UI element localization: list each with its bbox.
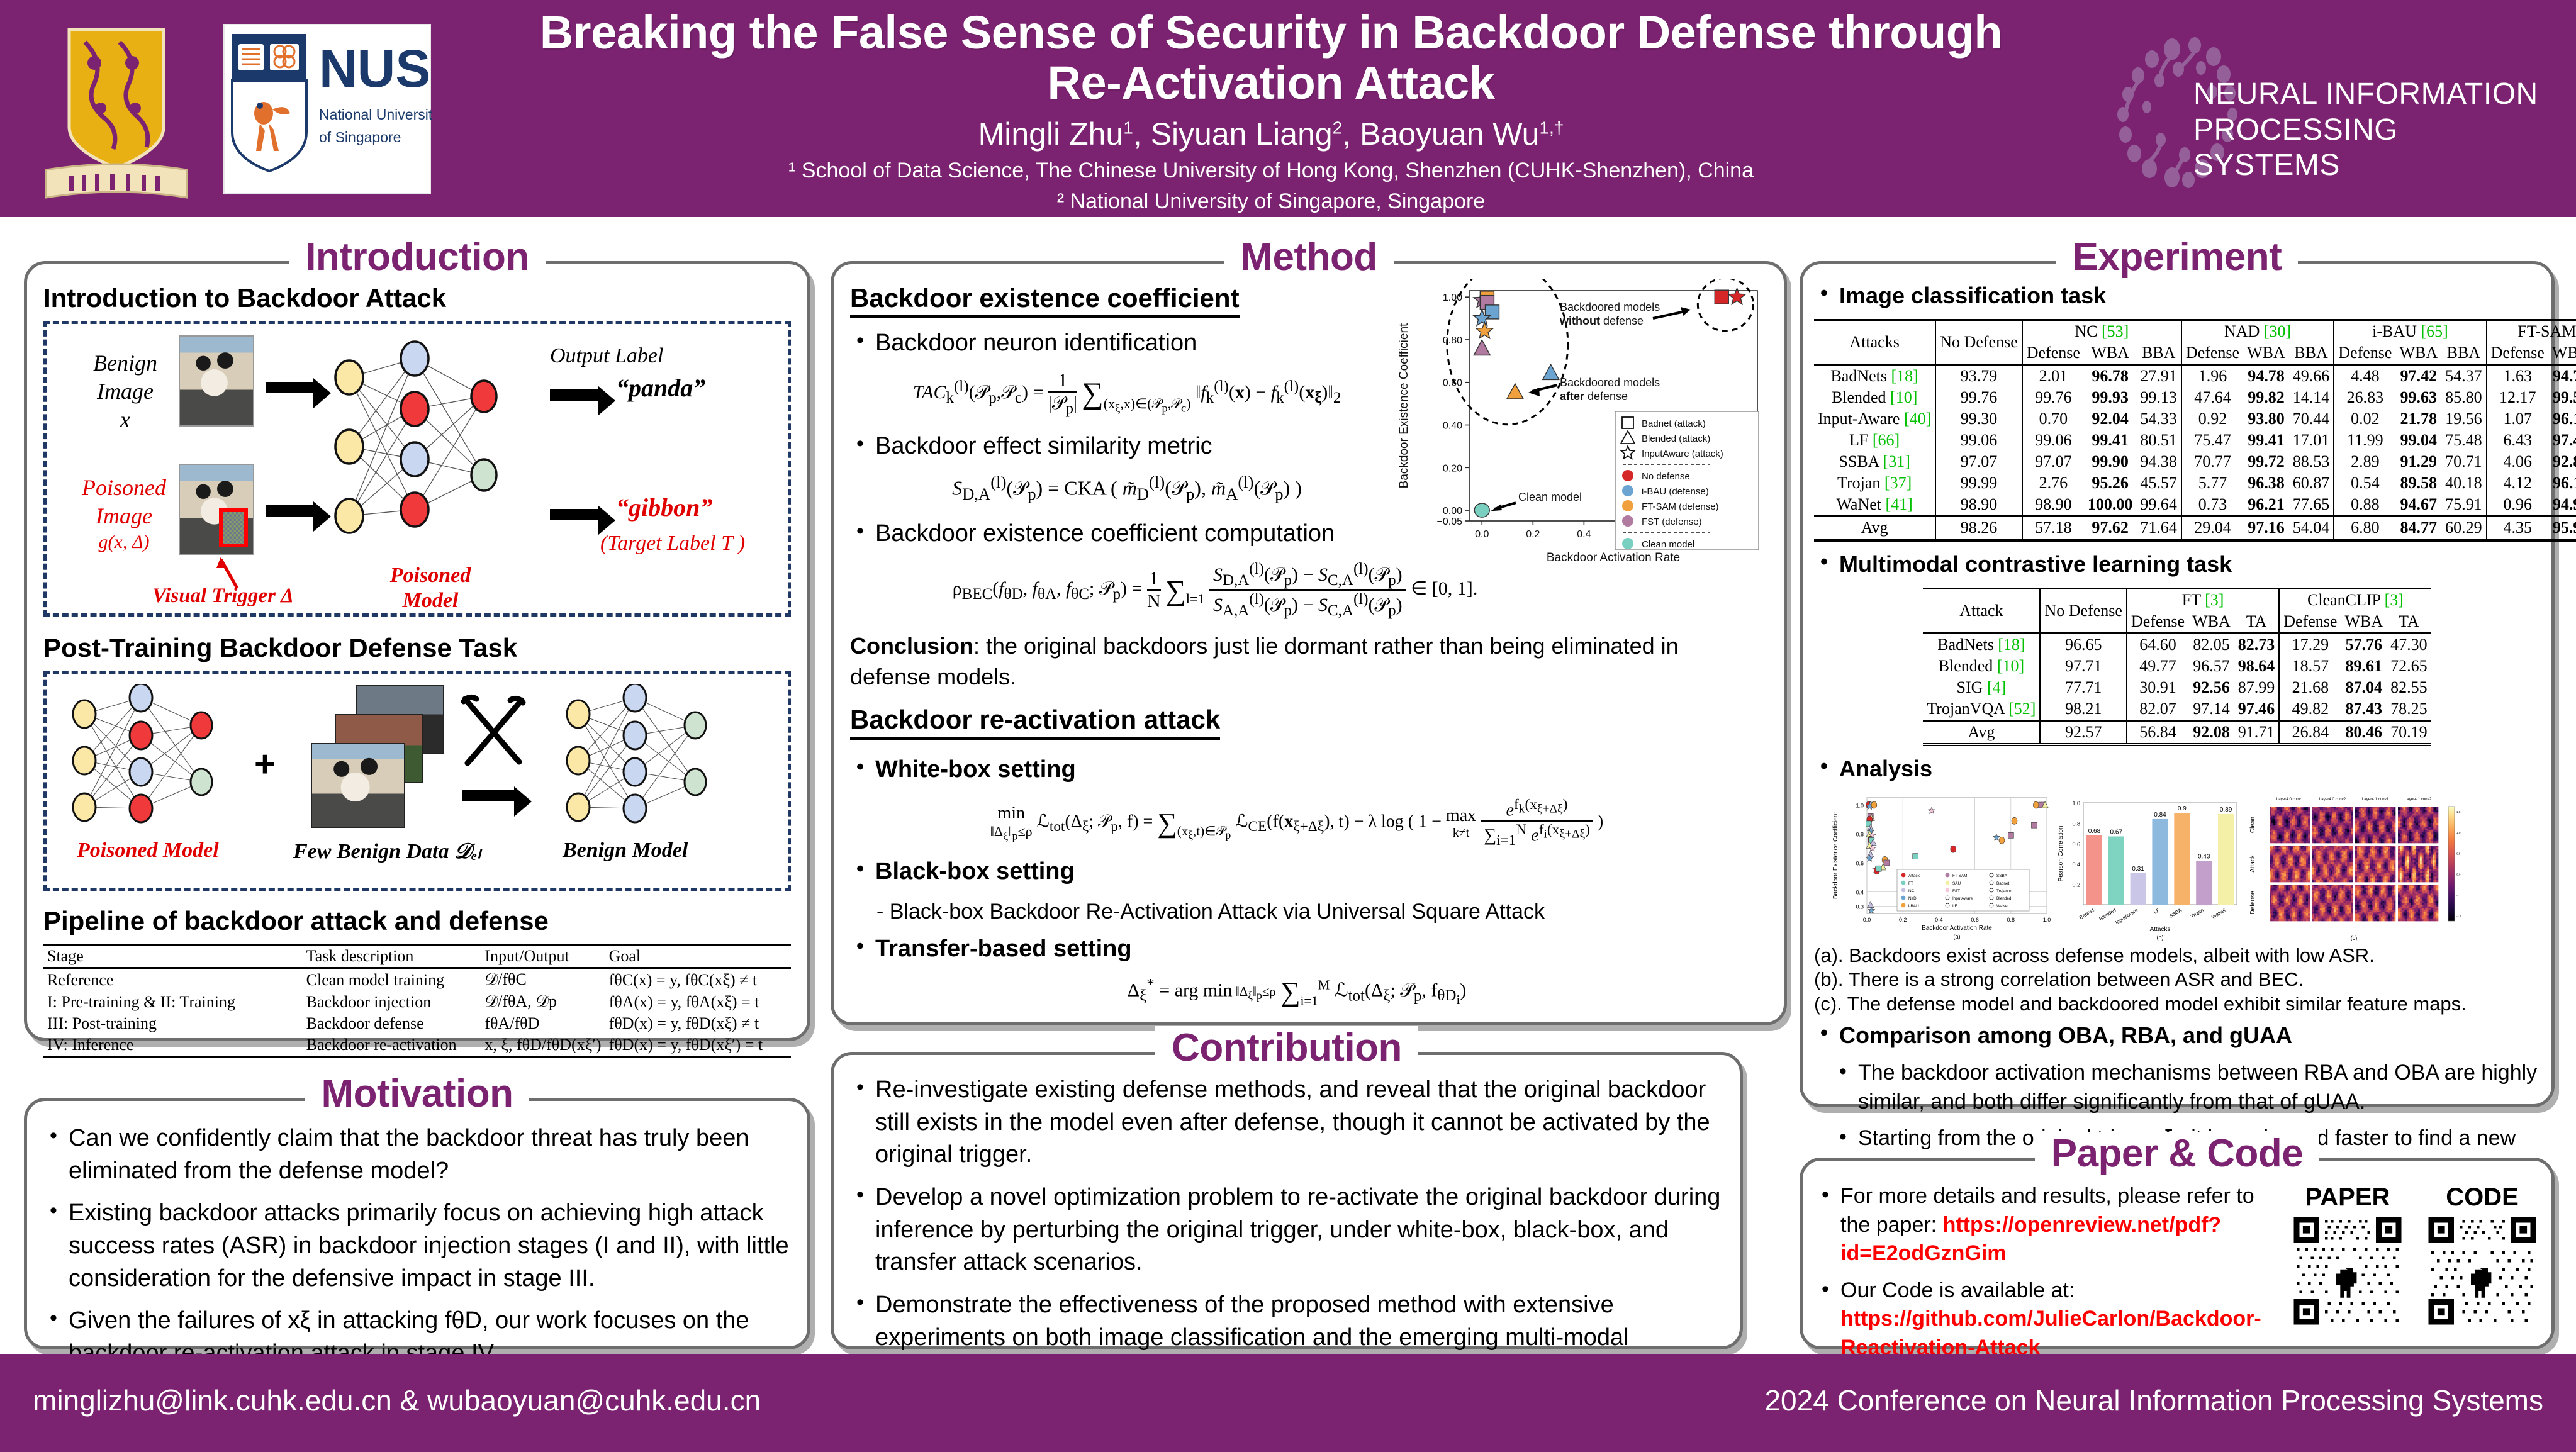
svg-text:(b): (b)	[2157, 934, 2164, 941]
svg-text:0.2: 0.2	[1526, 529, 1540, 540]
table-cell: Backdoor defense	[303, 1013, 481, 1034]
neurips-line-1: NEURAL INFORMATION	[2193, 77, 2546, 113]
svg-text:FT-SAM: FT-SAM	[1952, 874, 1967, 878]
cell-value: 96.78	[2084, 365, 2137, 388]
bullet-white-box: White-box setting	[850, 754, 1767, 786]
arrow-poisoned-to-model	[266, 505, 315, 517]
svg-text:Layer4.0.conv1: Layer4.0.conv1	[2276, 797, 2304, 801]
cell-value: 1.07	[2487, 408, 2548, 430]
svg-text:1.0: 1.0	[2043, 917, 2051, 923]
introduction-title: Introduction	[27, 235, 807, 279]
cell-value: 99.04	[2395, 430, 2441, 451]
cell-value: 99.82	[2243, 387, 2289, 408]
motivation-list: Can we confidently claim that the backdo…	[43, 1122, 791, 1370]
cell-value: 82.07	[2127, 698, 2188, 721]
qr-paper-block: PAPER	[2291, 1183, 2404, 1370]
cell-value: 64.60	[2127, 634, 2188, 656]
cell-value: 49.82	[2279, 698, 2341, 721]
title-line-1: Breaking the False Sense of Security in …	[466, 8, 2076, 58]
qr-github-code[interactable]	[2426, 1214, 2539, 1327]
cell-value: 92.04	[2084, 408, 2137, 430]
svg-text:0.8: 0.8	[1856, 831, 1864, 837]
cell-value: 82.55	[2387, 677, 2431, 698]
svg-text:0.3: 0.3	[1856, 903, 1864, 910]
cell-value: 56.84	[2127, 721, 2188, 745]
table-cell: fθA(x) = y, fθA(xξ) = t	[605, 991, 791, 1013]
cell-no-defense: 93.79	[1935, 365, 2022, 388]
cuhk-logo	[35, 14, 198, 203]
cell-attack: Avg	[1814, 517, 1935, 540]
title-block: Breaking the False Sense of Security in …	[466, 8, 2076, 214]
svg-text:Backdoor Activation Rate: Backdoor Activation Rate	[1922, 925, 1992, 932]
table-avg-row: Avg92.5756.8492.0891.7126.8480.4670.19	[1923, 721, 2431, 745]
svg-text:Backdoor Existence Coefficient: Backdoor Existence Coefficient	[1397, 323, 1411, 488]
image-classification-table: AttacksNo DefenseNC [53]NAD [30]i-BAU [6…	[1814, 319, 2576, 542]
cell-value: 40.18	[2441, 472, 2487, 494]
svg-text:Badnet (attack): Badnet (attack)	[1642, 418, 1706, 429]
footer-emails: minglizhu@link.cuhk.edu.cn & wubaoyuan@c…	[33, 1383, 761, 1417]
multimodal-table: AttackNo DefenseFT [3]CleanCLIP [3]Defen…	[1923, 588, 2431, 746]
contribution-bullet: Develop a novel optimization problem to …	[850, 1181, 1723, 1279]
poisoned-model-label: Poisoned Model	[342, 563, 518, 613]
col-group-NAD: NAD [30]	[2181, 320, 2334, 343]
cell-no-defense: 77.71	[2040, 677, 2126, 698]
poisoned-model-network-2	[65, 684, 254, 841]
svg-text:Backdoored models: Backdoored models	[1560, 376, 1660, 389]
cell-value: 94.38	[2136, 451, 2181, 472]
cell-value: 6.80	[2334, 517, 2395, 540]
svg-text:(a): (a)	[1954, 934, 1961, 940]
table-row: III: Post-trainingBackdoor defensefθA/fθ…	[43, 1013, 791, 1034]
cell-value: 11.99	[2334, 430, 2395, 451]
col-task: Task description	[303, 945, 481, 968]
svg-text:0.67: 0.67	[2110, 829, 2123, 835]
table-row: ReferenceClean model training𝒟/fθCfθC(x)…	[43, 968, 791, 991]
col-goal: Goal	[605, 945, 791, 968]
exp-bullet-mm: Multimodal contrastive learning task	[1814, 549, 2540, 579]
svg-text:Backdoor Existence Coefficient: Backdoor Existence Coefficient	[1832, 812, 1839, 898]
col-bba: BBA	[2289, 342, 2334, 365]
cell-no-defense: 99.76	[1935, 387, 2022, 408]
cell-no-defense: 98.90	[1935, 494, 2022, 517]
svg-text:NaD: NaD	[1908, 896, 1917, 901]
poster-header: NUS National University of Singapore Bre…	[0, 0, 2576, 217]
col-defense: Defense	[2127, 611, 2188, 634]
cell-value: 77.65	[2289, 494, 2334, 517]
contribution-title: Contribution	[834, 1025, 1740, 1070]
cell-value: 78.25	[2387, 698, 2431, 721]
cell-value: 96.38	[2243, 472, 2289, 494]
cell-value: 75.47	[2181, 430, 2243, 451]
table-row: Trojan [37]99.992.7695.2645.575.7796.386…	[1814, 472, 2576, 494]
col-attacks: Attack	[1923, 589, 2040, 634]
cell-value: 94.67	[2395, 494, 2441, 517]
cell-value: 99.56	[2548, 387, 2576, 408]
paper-code-panel: Paper & Code For more details and result…	[1800, 1158, 2555, 1349]
col-bba: BBA	[2136, 342, 2181, 365]
exp-bullet-comparison: Comparison among OBA, RBA, and gUAA	[1814, 1020, 2540, 1051]
col-group-FT: FT [3]	[2127, 589, 2279, 612]
cell-value: 70.77	[2181, 451, 2243, 472]
motivation-bullet: Can we confidently claim that the backdo…	[43, 1122, 791, 1187]
cell-value: 96.19	[2548, 408, 2576, 430]
cell-value: 84.77	[2395, 517, 2441, 540]
table-cell: III: Post-training	[43, 1013, 303, 1034]
cell-value: 60.29	[2441, 517, 2487, 540]
bullet-multimodal: Multimodal contrastive learning task	[1814, 549, 2540, 579]
affiliation-2: ² National University of Singapore, Sing…	[466, 189, 2076, 214]
cell-no-defense: 92.57	[2040, 721, 2126, 745]
cell-attack: LF [66]	[1814, 430, 1935, 451]
table-avg-row: Avg98.2657.1897.6271.6429.0497.1654.046.…	[1814, 517, 2576, 540]
svg-text:0.84: 0.84	[2154, 812, 2166, 818]
svg-text:0.0: 0.0	[1863, 917, 1871, 923]
page-title: Breaking the False Sense of Security in …	[466, 8, 2076, 108]
col-defense: Defense	[2181, 342, 2243, 365]
svg-text:0.80: 0.80	[1443, 335, 1462, 346]
svg-text:LF: LF	[2153, 907, 2161, 915]
cell-attack: Blended [10]	[1814, 387, 1935, 408]
table-row: Blended [10]97.7149.7796.5798.6418.5789.…	[1923, 656, 2431, 677]
formula-whitebox: min‖Δξ‖p≤ρ ℒtot(Δξ; 𝒫p, f) = ∑(xξ,t)∈𝒫p …	[850, 796, 1744, 849]
cell-value: 97.62	[2084, 517, 2137, 540]
cell-value: 82.05	[2188, 634, 2234, 656]
col-defense: Defense	[2334, 342, 2395, 365]
svg-text:0.00: 0.00	[1443, 506, 1462, 517]
cell-value: 99.64	[2136, 494, 2181, 517]
method-scatter-chart: 1.000.800.600.400.200.00−0.050.00.20.40.…	[1395, 279, 1772, 569]
benign-model-label: Benign Model	[563, 839, 688, 863]
table-cell: fθA/fθD	[481, 1013, 605, 1034]
table-row: Input-Aware [40]99.300.7092.0454.330.929…	[1814, 408, 2576, 430]
cell-value: 57.76	[2341, 634, 2387, 656]
cell-value: 97.07	[2022, 451, 2084, 472]
method-subheading-reactivation: Backdoor re-activation attack	[850, 705, 1220, 740]
svg-text:0.31: 0.31	[2132, 865, 2144, 872]
contribution-list: Re-investigate existing defense methods,…	[850, 1074, 1723, 1387]
svg-text:Attack: Attack	[1908, 874, 1920, 878]
cell-value: 0.96	[2487, 494, 2548, 517]
code-link-prefix: Our Code is available at:	[1840, 1278, 2075, 1302]
cell-value: 14.14	[2289, 387, 2334, 408]
formula-tac: TACk(l)(𝒫p,𝒫c) = 1 |𝒫p| ∑(xξ,x)∈(𝒫p,𝒫c) …	[850, 370, 1404, 418]
cell-value: 87.43	[2341, 698, 2387, 721]
svg-text:Blended (attack): Blended (attack)	[1642, 433, 1710, 444]
neurips-line-2: PROCESSING SYSTEMS	[2193, 113, 2546, 184]
svg-text:0.2: 0.2	[1899, 917, 1907, 923]
nus-logo: NUS National University of Singapore	[223, 24, 431, 194]
cell-no-defense: 97.07	[1935, 451, 2022, 472]
output-panda: “panda”	[616, 373, 705, 403]
svg-text:0.4: 0.4	[1856, 889, 1864, 895]
svg-text:Clean model: Clean model	[1518, 491, 1582, 503]
cell-value: 4.35	[2487, 517, 2548, 540]
method-coef-bullets: Backdoor existence coefficient computati…	[850, 518, 1429, 550]
cell-value: 85.80	[2441, 387, 2487, 408]
svg-text:1.0: 1.0	[1856, 802, 1864, 808]
svg-text:0.6: 0.6	[2072, 841, 2080, 847]
svg-text:0.0: 0.0	[1475, 529, 1489, 540]
conclusion-text: : the original backdoors just lie dorman…	[850, 633, 1679, 690]
col-wba: WBA	[2395, 342, 2441, 365]
intro-subheading-defense: Post-Training Backdoor Defense Task	[43, 633, 791, 663]
formula-similarity: SD,A(l)(𝒫p) = CKA ( m̃D(l)(𝒫p), m̃A(l)(𝒫…	[850, 472, 1404, 504]
cell-value: 98.90	[2022, 494, 2084, 517]
cell-value: 100.00	[2084, 494, 2137, 517]
bullet-transfer-based: Transfer-based setting	[850, 933, 1767, 966]
backdoor-attack-diagram: Benign Image x Poisoned Image g(x, Δ) Vi…	[43, 321, 791, 617]
svg-text:WaNet: WaNet	[1996, 904, 2009, 908]
cell-attack: WaNet [41]	[1814, 494, 1935, 517]
bullet-analysis: Analysis	[1814, 754, 2540, 784]
title-line-2: Re-Activation Attack	[466, 58, 2076, 108]
svg-text:0.4: 0.4	[1935, 917, 1943, 923]
table-cell: Reference	[43, 968, 303, 991]
cell-value: 0.54	[2334, 472, 2395, 494]
cell-value: 70.19	[2387, 721, 2431, 745]
col-defense: Defense	[2022, 342, 2084, 365]
table-cell: fθD(x) = y, fθD(xξ′) = t	[605, 1034, 791, 1057]
svg-text:SSBA: SSBA	[1996, 874, 2008, 878]
bullet-neuron-identification: Backdoor neuron identification	[850, 327, 1391, 360]
cell-no-defense: 96.65	[2040, 634, 2126, 656]
introduction-panel: Introduction Introduction to Backdoor At…	[24, 261, 810, 1041]
cell-value: 96.21	[2243, 494, 2289, 517]
svg-text:0.43: 0.43	[2198, 853, 2210, 860]
svg-text:i-BAU (defense): i-BAU (defense)	[1642, 486, 1709, 497]
svg-text:SAU: SAU	[1952, 881, 1961, 886]
svg-text:0.8: 0.8	[2007, 917, 2015, 923]
cell-value: 2.01	[2022, 365, 2084, 388]
svg-text:0.4: 0.4	[1577, 529, 1591, 540]
svg-text:InputAware: InputAware	[1952, 896, 1973, 901]
benign-image-label: Benign Image x	[72, 349, 179, 434]
svg-text:0.4: 0.4	[2072, 861, 2080, 868]
svg-text:0.40: 0.40	[1443, 421, 1462, 432]
cell-value: 91.29	[2395, 451, 2441, 472]
col-group-CleanCLIP: CleanCLIP [3]	[2279, 589, 2431, 612]
col-group-NC: NC [53]	[2022, 320, 2181, 343]
cell-value: 21.68	[2279, 677, 2341, 698]
cell-value: 99.76	[2022, 387, 2084, 408]
cell-value: 93.80	[2243, 408, 2289, 430]
cell-value: 1.63	[2487, 365, 2548, 388]
cell-value: 99.90	[2084, 451, 2137, 472]
footer-conference: 2024 Conference on Neural Information Pr…	[1764, 1383, 2543, 1417]
method-settings-whitebox: White-box setting	[850, 754, 1767, 786]
poisoned-image-label: Poisoned Image g(x, Δ)	[64, 474, 184, 554]
bullet-code-link: Our Code is available at: https://github…	[1815, 1276, 2262, 1363]
bullet-comparison: Comparison among OBA, RBA, and gUAA	[1814, 1020, 2540, 1051]
cell-value: 99.06	[2022, 430, 2084, 451]
svg-text:LF: LF	[1952, 904, 1957, 908]
cell-attack: Input-Aware [40]	[1814, 408, 1935, 430]
cell-value: 57.18	[2022, 517, 2084, 540]
poster-footer: minglizhu@link.cuhk.edu.cn & wubaoyuan@c…	[0, 1354, 2576, 1452]
svg-text:Layer4.1.conv1: Layer4.1.conv1	[2362, 797, 2389, 801]
arrow-to-benign-model	[462, 790, 515, 801]
analysis-note: (b). There is a strong correlation betwe…	[1814, 968, 2540, 992]
table-row: TrojanVQA [52]98.2182.0797.1497.4649.828…	[1923, 698, 2431, 721]
svg-text:without defense: without defense	[1559, 315, 1644, 327]
formula-transfer: Δξ* = arg min ‖Δξ‖p≤ρ ∑i=1M ℒtot(Δξ; 𝒫p,…	[850, 976, 1744, 1008]
cell-value: 18.57	[2279, 656, 2341, 677]
cell-value: 99.72	[2243, 451, 2289, 472]
cell-value: 19.56	[2441, 408, 2487, 430]
cell-value: 54.37	[2441, 365, 2487, 388]
cell-value: 2.76	[2022, 472, 2084, 494]
cell-no-defense: 98.26	[1935, 517, 2022, 540]
cell-value: 88.53	[2289, 451, 2334, 472]
wrench-tools-icon	[452, 688, 534, 769]
benign-model-network	[559, 684, 748, 841]
experiment-panel: Experiment Image classification task Att…	[1800, 261, 2555, 1107]
svg-text:0.89: 0.89	[2220, 807, 2232, 813]
cell-no-defense: 99.30	[1935, 408, 2022, 430]
svg-text:Badnet: Badnet	[2078, 907, 2095, 920]
cell-value: 4.06	[2487, 451, 2548, 472]
cell-value: 89.58	[2395, 472, 2441, 494]
table-cell: 𝒟/fθA, 𝒟p	[481, 991, 605, 1013]
cell-attack: BadNets [18]	[1923, 634, 2040, 656]
cell-value: 17.01	[2289, 430, 2334, 451]
svg-text:0.20: 0.20	[1443, 463, 1462, 474]
table-row: BadNets [18]96.6564.6082.0582.7317.2957.…	[1923, 634, 2431, 656]
cell-value: 0.92	[2181, 408, 2243, 430]
cell-value: 45.57	[2136, 472, 2181, 494]
method-conclusion: Conclusion: the original backdoors just …	[850, 631, 1744, 692]
cell-attack: Avg	[1923, 721, 2040, 745]
analysis-notes: (a). Backdoors exist across defense mode…	[1814, 944, 2540, 1017]
cell-value: 0.70	[2022, 408, 2084, 430]
arrow-to-gibbon-output	[550, 509, 599, 520]
poisoned-model-label-2: Poisoned Model	[77, 839, 219, 863]
svg-text:Layer4.0.conv2: Layer4.0.conv2	[2319, 797, 2346, 801]
qr-code-label: CODE	[2426, 1183, 2539, 1212]
blackbox-note: - Black-box Backdoor Re-Activation Attac…	[876, 900, 1767, 924]
svg-text:Attacks: Attacks	[2150, 926, 2171, 933]
output-gibbon: “gibbon”	[616, 493, 712, 522]
table-row: SSBA [31]97.0797.0799.9094.3870.7799.728…	[1814, 451, 2576, 472]
qr-paper-code[interactable]	[2291, 1214, 2404, 1327]
table-cell: I: Pre-training & II: Training	[43, 991, 303, 1013]
svg-text:−0.05: −0.05	[1437, 517, 1463, 527]
svg-text:NC: NC	[1908, 889, 1915, 893]
cell-value: 1.96	[2181, 365, 2243, 388]
cell-attack: TrojanVQA [52]	[1923, 698, 2040, 721]
cell-value: 94.95	[2548, 494, 2576, 517]
cell-value: 6.43	[2487, 430, 2548, 451]
few-benign-data-label: Few Benign Data 𝒟ₑₗ	[293, 839, 481, 864]
cell-attack: Trojan [37]	[1814, 472, 1935, 494]
svg-text:0.2: 0.2	[2072, 881, 2080, 888]
intro-subheading-pipeline: Pipeline of backdoor attack and defense	[43, 906, 791, 936]
col-group-FT-SAM: FT-SAM [70]	[2487, 320, 2576, 343]
analysis-figure-row: 0.30.40.60.81.00.00.20.40.60.81.0Backdoo…	[1830, 793, 2540, 942]
cell-value: 82.73	[2234, 634, 2280, 656]
cell-value: 49.66	[2289, 365, 2334, 388]
col-group-i-BAU: i-BAU [65]	[2334, 320, 2486, 343]
cell-value: 87.99	[2234, 677, 2280, 698]
formula-bec: ρBEC(fθD, fθA, fθC; 𝒫p) = 1N ∑l=1 SD,A(l…	[850, 561, 1580, 620]
analysis-heatmap-c: Layer4.0.conv1Layer4.0.conv2Layer4.1.con…	[2247, 793, 2461, 942]
cell-value: 99.41	[2084, 430, 2137, 451]
svg-text:InputAware: InputAware	[2114, 907, 2139, 925]
motivation-panel: Motivation Can we confidently claim that…	[24, 1098, 810, 1349]
cell-value: 92.08	[2188, 721, 2234, 745]
cell-value: 99.93	[2084, 387, 2137, 408]
cell-value: 47.30	[2387, 634, 2431, 656]
cell-value: 75.48	[2441, 430, 2487, 451]
method-settings-transfer: Transfer-based setting	[850, 933, 1767, 966]
qr-paper-label: PAPER	[2291, 1183, 2404, 1212]
cell-value: 5.77	[2181, 472, 2243, 494]
paper-code-bullets: For more details and results, please ref…	[1815, 1182, 2262, 1362]
plus-sign: +	[254, 743, 276, 785]
cell-attack: SIG [4]	[1923, 677, 2040, 698]
col-defense: Defense	[2279, 611, 2341, 634]
cell-value: 27.91	[2136, 365, 2181, 388]
code-url-link[interactable]: https://github.com/JulieCarlon/Backdoor-…	[1840, 1307, 2261, 1360]
table-row: LF [66]99.0699.0699.4180.5175.4799.4117.…	[1814, 430, 2576, 451]
svg-text:No defense: No defense	[1642, 471, 1690, 482]
cell-attack: SSBA [31]	[1814, 451, 1935, 472]
bullet-image-classification: Image classification task	[1814, 281, 2540, 311]
svg-text:Backdoored models: Backdoored models	[1560, 301, 1660, 313]
visual-trigger-label: Visual Trigger Δ	[152, 584, 294, 608]
method-settings-blackbox: Black-box setting	[850, 856, 1767, 888]
svg-text:Backdoor Activation Rate: Backdoor Activation Rate	[1547, 551, 1680, 564]
cell-value: 94.71	[2548, 365, 2576, 388]
table-cell: Backdoor re-activation	[303, 1034, 481, 1057]
exp-bullet-analysis: Analysis	[1814, 754, 2540, 784]
neurips-wordmark: NEURAL INFORMATION PROCESSING SYSTEMS	[2193, 77, 2546, 184]
cell-attack: BadNets [18]	[1814, 365, 1935, 388]
method-bec-bullets: Backdoor neuron identification	[850, 327, 1391, 360]
affiliation-1: ¹ School of Data Science, The Chinese Un…	[466, 159, 2076, 183]
cell-value: 95.97	[2548, 517, 2576, 540]
col-wba: WBA	[2084, 342, 2137, 365]
cell-value: 99.41	[2243, 430, 2289, 451]
cell-value: 80.46	[2341, 721, 2387, 745]
arrow-to-panda-output	[550, 389, 599, 401]
cell-value: 92.56	[2188, 677, 2234, 698]
cell-value: 54.33	[2136, 408, 2181, 430]
cell-value: 17.29	[2279, 634, 2341, 656]
col-no-defense: No Defense	[2040, 589, 2126, 634]
cell-no-defense: 98.21	[2040, 698, 2126, 721]
svg-text:SSBA: SSBA	[2168, 907, 2183, 919]
cell-value: 21.78	[2395, 408, 2441, 430]
svg-text:NUS: NUS	[319, 39, 430, 98]
analysis-note: (a). Backdoors exist across defense mode…	[1814, 944, 2540, 968]
cell-value: 60.87	[2289, 472, 2334, 494]
intro-subheading-attack: Introduction to Backdoor Attack	[43, 283, 791, 313]
bullet-bec-computation: Backdoor existence coefficient computati…	[850, 518, 1429, 550]
output-label-heading: Output Label	[550, 344, 663, 368]
svg-text:FST (defense): FST (defense)	[1642, 517, 1702, 527]
col-io: Input/Output	[481, 945, 605, 968]
analysis-bar-b: 0.20.40.60.81.00.68Badnet0.67Blended0.31…	[2056, 793, 2242, 942]
pipeline-table: Stage Task description Input/Output Goal…	[43, 944, 791, 1058]
svg-text:0.8: 0.8	[2072, 820, 2080, 827]
cell-value: 97.14	[2188, 698, 2234, 721]
table-cell: Backdoor injection	[303, 991, 481, 1013]
cell-no-defense: 99.06	[1935, 430, 2022, 451]
svg-text:Badnet: Badnet	[1996, 881, 2009, 886]
experiment-title: Experiment	[1803, 235, 2551, 279]
svg-text:National University: National University	[319, 106, 432, 123]
